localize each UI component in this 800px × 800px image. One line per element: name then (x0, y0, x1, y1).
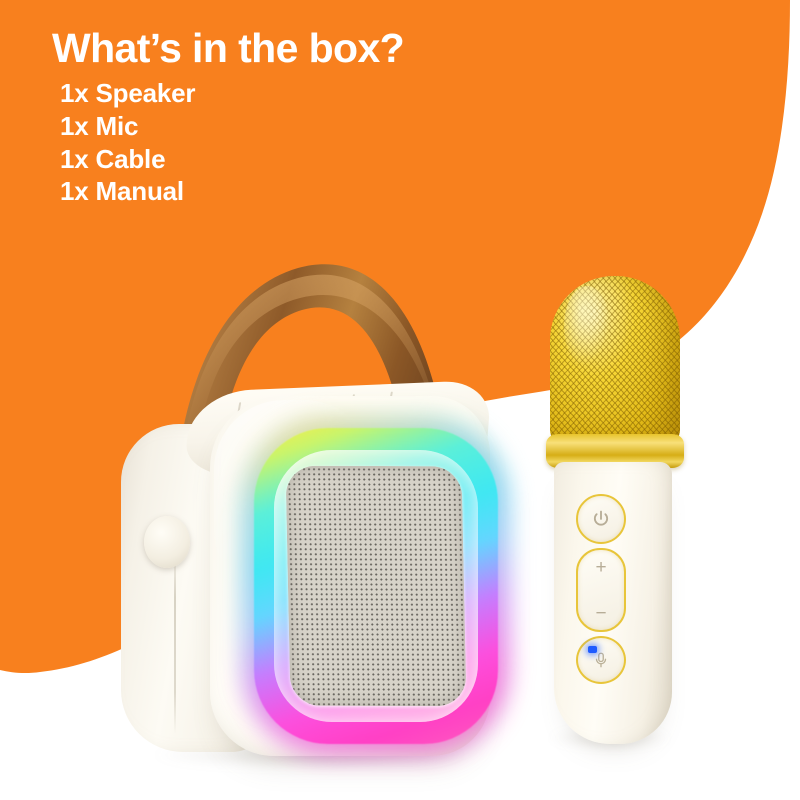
box-contents-list: 1x Speaker 1x Mic 1x Cable 1x Manual (52, 77, 404, 208)
power-icon (591, 509, 611, 529)
speaker-grille (285, 466, 466, 707)
product-infographic: What’s in the box? 1x Speaker 1x Mic 1x … (0, 0, 800, 800)
list-item: 1x Cable (60, 143, 404, 176)
copy-block: What’s in the box? 1x Speaker 1x Mic 1x … (52, 28, 404, 208)
bluetooth-led-indicator (588, 646, 597, 653)
list-item: 1x Mic (60, 110, 404, 143)
page-title: What’s in the box? (52, 28, 404, 69)
microphone-icon (592, 651, 610, 669)
list-item: 1x Speaker (60, 77, 404, 110)
power-button[interactable] (576, 494, 626, 544)
volume-down-label: − (595, 604, 606, 623)
speaker-product-image (118, 228, 518, 768)
echo-button[interactable] (576, 636, 626, 684)
speaker-seam-line (174, 544, 176, 734)
list-item: 1x Manual (60, 175, 404, 208)
handle-anchor-button (144, 516, 190, 568)
microphone-control-panel: + − (572, 494, 630, 694)
volume-up-label: + (595, 558, 606, 577)
volume-button[interactable]: + − (576, 548, 626, 632)
microphone-product-image: + − (530, 276, 690, 746)
microphone-mesh-head (550, 276, 680, 444)
